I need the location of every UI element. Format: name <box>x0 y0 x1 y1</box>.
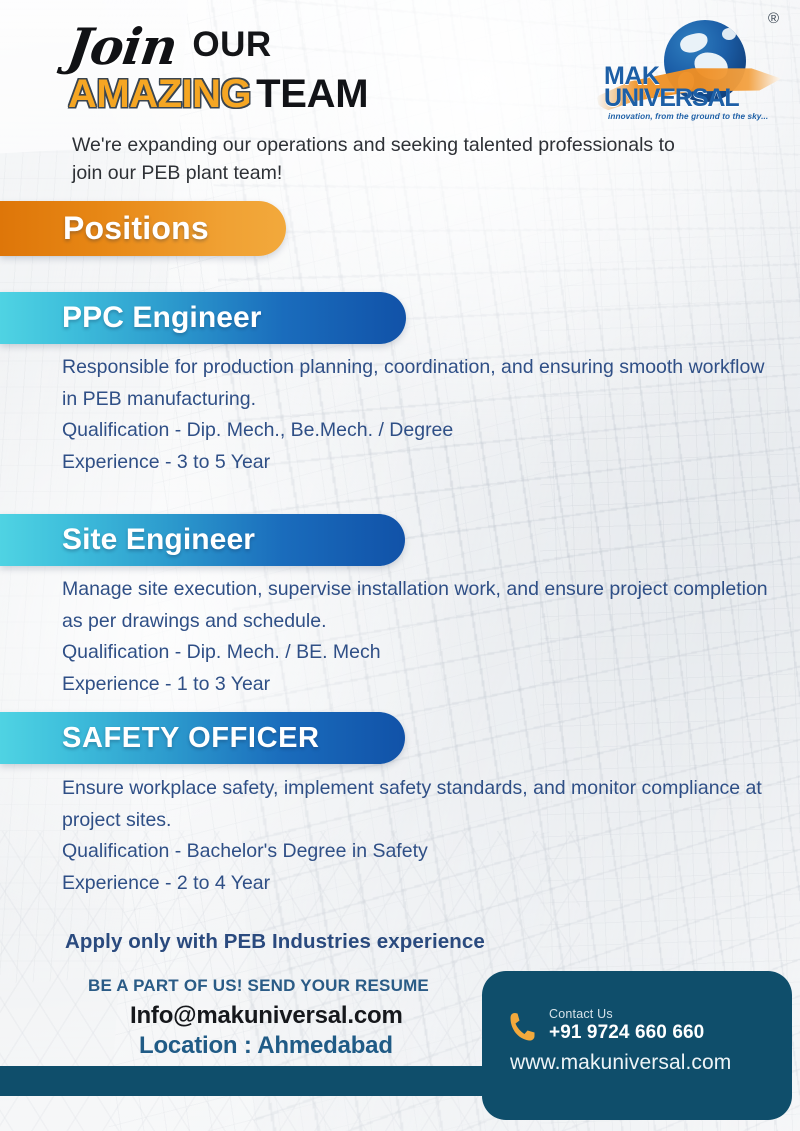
job-title-2: Site Engineer <box>0 523 255 557</box>
contact-phone-row: Contact Us +91 9724 660 660 <box>510 1007 704 1044</box>
job-experience-2: Experience - 1 to 3 Year <box>62 669 782 701</box>
contact-email[interactable]: Info@makuniversal.com <box>130 1002 403 1030</box>
logo-tagline: innovation, from the ground to the sky..… <box>608 112 768 121</box>
poster-content: Join OUR AMAZING TEAM We're expanding ou… <box>0 0 800 1131</box>
registered-trademark-icon: ® <box>768 10 779 27</box>
headline: Join OUR AMAZING TEAM <box>68 12 628 117</box>
job-details-1: Responsible for production planning, coo… <box>62 352 782 478</box>
job-banner-site-engineer: Site Engineer <box>0 514 405 566</box>
job-details-2: Manage site execution, supervise install… <box>62 574 782 700</box>
apply-note: Apply only with PEB Industries experienc… <box>65 930 485 954</box>
job-title-3: SAFETY OFFICER <box>0 722 320 755</box>
company-logo: ® MAK UNIVERSAL innovation, from the gro… <box>592 8 784 132</box>
headline-word-team: TEAM <box>256 72 368 117</box>
job-qualification-3: Qualification - Bachelor's Degree in Saf… <box>62 836 782 868</box>
job-title-1: PPC Engineer <box>0 301 262 335</box>
logo-name-line-2: UNIVERSAL <box>604 84 739 113</box>
headline-line-2: AMAZING TEAM <box>68 72 628 117</box>
contact-website[interactable]: www.makuniversal.com <box>510 1051 731 1075</box>
phone-icon <box>510 1011 536 1041</box>
job-qualification-2: Qualification - Dip. Mech. / BE. Mech <box>62 637 782 669</box>
headline-word-our: OUR <box>192 25 271 70</box>
recruitment-poster: Join OUR AMAZING TEAM We're expanding ou… <box>0 0 800 1131</box>
contact-phone-number[interactable]: +91 9724 660 660 <box>549 1022 704 1044</box>
job-experience-3: Experience - 2 to 4 Year <box>62 868 782 900</box>
headline-script-word: Join <box>65 23 184 71</box>
positions-banner: Positions <box>0 201 286 256</box>
contact-label: Contact Us <box>549 1007 704 1021</box>
job-details-3: Ensure workplace safety, implement safet… <box>62 773 782 899</box>
location-text: Location : Ahmedabad <box>139 1032 393 1060</box>
headline-word-amazing: AMAZING <box>68 72 251 117</box>
headline-line-1: Join OUR <box>68 12 628 70</box>
contact-card: Contact Us +91 9724 660 660 www.makunive… <box>482 971 792 1120</box>
job-banner-safety-officer: SAFETY OFFICER <box>0 712 405 764</box>
job-banner-ppc-engineer: PPC Engineer <box>0 292 406 344</box>
subtitle-text: We're expanding our operations and seeki… <box>72 132 682 187</box>
job-description-1: Responsible for production planning, coo… <box>62 352 782 415</box>
job-description-2: Manage site execution, supervise install… <box>62 574 782 637</box>
job-description-3: Ensure workplace safety, implement safet… <box>62 773 782 836</box>
positions-banner-label: Positions <box>0 210 209 247</box>
resume-cta-text: BE A PART OF US! SEND YOUR RESUME <box>88 976 429 996</box>
job-experience-1: Experience - 3 to 5 Year <box>62 447 782 479</box>
job-qualification-1: Qualification - Dip. Mech., Be.Mech. / D… <box>62 415 782 447</box>
